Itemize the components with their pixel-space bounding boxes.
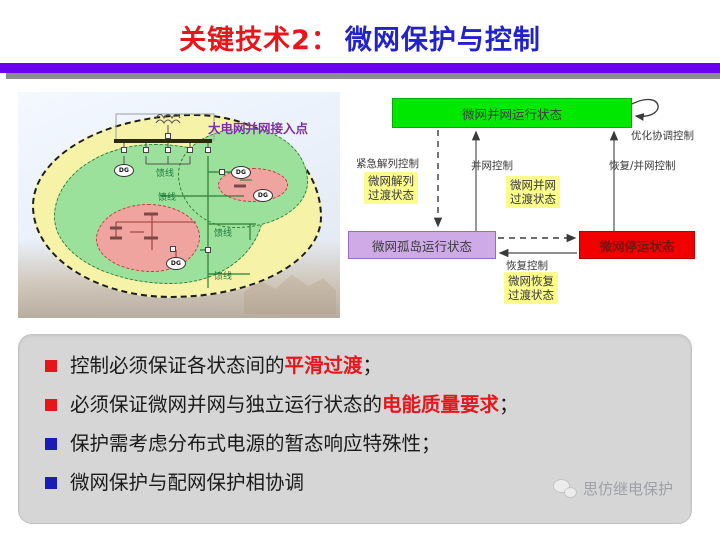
- bullet-marker-icon: [45, 477, 57, 489]
- key-points-panel: 控制必须保证各状态间的平滑过渡； 必须保证微网并网与独立运行状态的电能质量要求；…: [18, 334, 692, 524]
- bullet-text: 必须保证微网并网与独立运行状态的电能质量要求；: [70, 390, 519, 420]
- watermark: 思仿继电保护: [554, 478, 673, 499]
- transition-disconnect: 微网解列 过渡状态: [364, 172, 418, 204]
- dg-node: DG: [253, 189, 273, 202]
- arrow-label-optimized-coordination-control: 优化协调控制: [631, 128, 694, 143]
- arrow-label-restore-grid-connect-control: 恢复/并网控制: [609, 158, 676, 173]
- title-underline-bar: [0, 63, 720, 73]
- list-item: 控制必须保证各状态间的平滑过渡；: [45, 351, 681, 381]
- wechat-icon: [554, 480, 576, 497]
- bullet-text: 控制必须保证各状态间的平滑过渡；: [70, 351, 382, 381]
- state-transition-diagram: 微网并网运行状态 微网孤岛运行状态 微网停运状态 微网解列 过渡状态 微网并网 …: [346, 92, 712, 318]
- transition-restore: 微网恢复 过渡状态: [504, 272, 558, 304]
- bullet-text-pre: 微网保护与配网保护相协调: [70, 471, 304, 494]
- transition-connect-line2: 过渡状态: [510, 192, 556, 206]
- transition-restore-line1: 微网恢复: [508, 274, 554, 288]
- list-item: 必须保证微网并网与独立运行状态的电能质量要求；: [45, 390, 681, 420]
- slide-root: 关键技术2：微网保护与控制: [0, 0, 720, 540]
- bullet-text-post: ；: [499, 393, 519, 416]
- transition-disconnect-line2: 过渡状态: [368, 188, 414, 202]
- transition-restore-line2: 过渡状态: [508, 288, 554, 302]
- bullet-text: 微网保护与配网保护相协调: [70, 468, 304, 498]
- transition-connect-line1: 微网并网: [510, 178, 556, 192]
- state-island[interactable]: 微网孤岛运行状态: [348, 231, 496, 259]
- feeder-label: 馈线: [158, 190, 176, 203]
- bullet-text-highlight: 电能质量要求: [382, 393, 499, 416]
- switch-icon: [205, 147, 211, 153]
- feeder-label: 馈线: [214, 269, 232, 282]
- page-title: 关键技术2：微网保护与控制: [0, 18, 720, 57]
- title-underline-shadow: [6, 73, 720, 79]
- list-item: 保护需考虑分布式电源的暂态响应特殊性；: [45, 429, 681, 459]
- feeder-label: 馈线: [214, 226, 232, 239]
- watermark-text: 思仿继电保护: [583, 478, 673, 499]
- dg-node: DG: [114, 164, 134, 177]
- switch-icon: [187, 147, 193, 153]
- dg-node: DG: [166, 257, 186, 270]
- switch-icon: [121, 147, 127, 153]
- bullet-text-highlight: 平滑过渡: [285, 354, 363, 377]
- microgrid-topology-image: DG DG DG DG 馈线 馈线 馈线 馈线 大电网并网接入点: [18, 92, 340, 318]
- bullet-marker-icon: [45, 399, 57, 411]
- transition-connect: 微网并网 过渡状态: [506, 176, 560, 208]
- bullet-marker-icon: [45, 360, 57, 372]
- transition-disconnect-line1: 微网解列: [368, 174, 414, 188]
- page-title-blue-part: 微网保护与控制: [345, 25, 541, 56]
- switch-icon: [170, 246, 176, 252]
- feeder-label: 馈线: [156, 166, 174, 179]
- state-grid-connected[interactable]: 微网并网运行状态: [392, 98, 632, 128]
- switch-icon: [219, 169, 225, 175]
- arrow-label-restore-control: 恢复控制: [506, 258, 548, 273]
- switch-icon: [165, 133, 171, 139]
- switch-icon: [165, 147, 171, 153]
- bullet-text: 保护需考虑分布式电源的暂态响应特殊性；: [70, 429, 441, 459]
- arrow-label-emergency-split: 紧急解列控制: [356, 156, 419, 171]
- page-title-red-part: 关键技术2：: [179, 25, 339, 56]
- grid-connection-point-label: 大电网并网接入点: [208, 118, 308, 137]
- bullet-text-pre: 控制必须保证各状态间的: [70, 354, 285, 377]
- bullet-text-pre: 必须保证微网并网与独立运行状态的: [70, 393, 382, 416]
- switch-icon: [205, 247, 211, 253]
- bullet-text-pre: 保护需考虑分布式电源的暂态响应特殊性；: [70, 432, 441, 455]
- bullet-marker-icon: [45, 438, 57, 450]
- dg-node: DG: [231, 166, 251, 179]
- bullet-text-post: ；: [363, 354, 383, 377]
- switch-icon: [143, 147, 149, 153]
- state-stopped[interactable]: 微网停运状态: [579, 231, 695, 259]
- arrow-label-grid-connect-control: 并网控制: [471, 158, 513, 173]
